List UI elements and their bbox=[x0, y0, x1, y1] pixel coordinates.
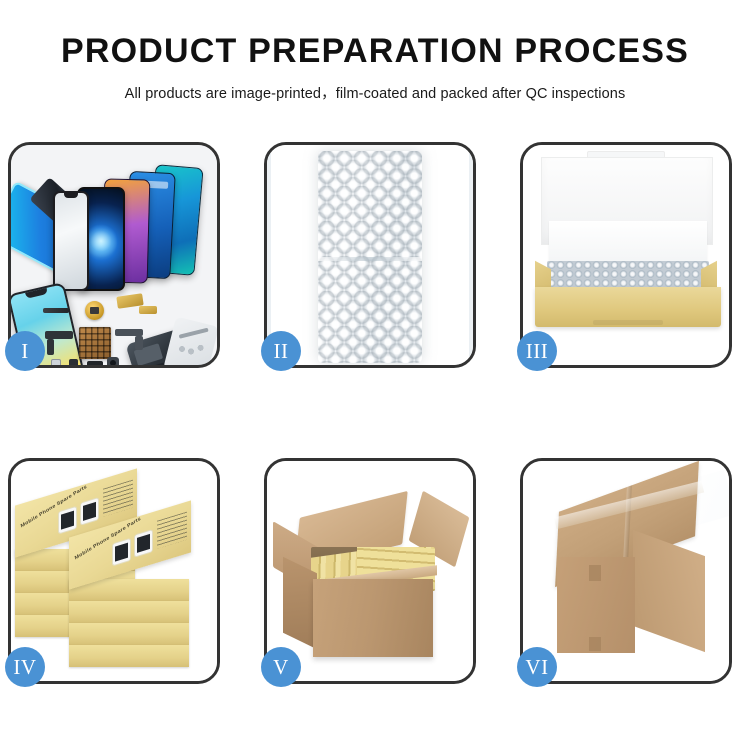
step-panel-carton-sealed: VI bbox=[520, 458, 732, 684]
flex-cable-grey-icon bbox=[115, 329, 143, 336]
loudspeaker-icon bbox=[87, 361, 103, 365]
carton-right-face bbox=[633, 530, 705, 652]
step-panel-bubble-wrap: II bbox=[264, 142, 476, 368]
button-part-icon bbox=[69, 359, 78, 365]
step-image-bubble-wrap bbox=[267, 145, 473, 365]
copper-grid-chip-icon bbox=[79, 327, 111, 359]
page-header: PRODUCT PREPARATION PROCESS All products… bbox=[0, 0, 750, 103]
process-steps-grid: I II III bbox=[8, 142, 742, 684]
screws-icon bbox=[179, 343, 209, 355]
box-label-spec-lines bbox=[103, 480, 133, 517]
bubble-wrap-edge-right bbox=[469, 145, 473, 365]
carton-left-face bbox=[283, 557, 317, 650]
stacked-box bbox=[69, 645, 189, 667]
step-badge-5: V bbox=[261, 647, 301, 687]
flex-cable-dark-icon bbox=[45, 331, 73, 339]
bubble-wrap-sheet-icon bbox=[318, 151, 422, 363]
step-image-carton-sealed bbox=[523, 461, 729, 681]
bubble-wrap-seam bbox=[318, 257, 422, 261]
repair-tool-icon bbox=[163, 316, 217, 365]
carton-hand-hole-top bbox=[589, 565, 601, 581]
camera-module-icon bbox=[107, 357, 119, 365]
step-image-phone-parts bbox=[11, 145, 217, 365]
carton-hand-hole-bottom bbox=[589, 637, 601, 651]
step-panel-box-stack: Mobile Phone Spare Parts Mobile Phone Sp… bbox=[8, 458, 220, 684]
box-label-screen-image bbox=[135, 530, 152, 556]
step-badge-4: IV bbox=[5, 647, 45, 687]
kraft-box-front-icon bbox=[535, 287, 721, 327]
step-badge-1: I bbox=[5, 331, 45, 371]
flex-cable-gold-small-icon bbox=[139, 306, 157, 314]
box-label-screen-image bbox=[59, 507, 76, 533]
step-image-box-stack: Mobile Phone Spare Parts Mobile Phone Sp… bbox=[11, 461, 217, 681]
glass-screen-protector-icon bbox=[53, 191, 89, 291]
step-panel-phone-parts: I bbox=[8, 142, 220, 368]
box-label-spec-lines bbox=[157, 512, 187, 549]
retail-box-stack-icon: Mobile Phone Spare Parts Mobile Phone Sp… bbox=[11, 461, 217, 681]
step-image-carton-filling bbox=[267, 461, 473, 681]
step-badge-6: VI bbox=[517, 647, 557, 687]
carton-front-face bbox=[313, 579, 433, 657]
stacked-box bbox=[69, 601, 189, 623]
sim-tray-icon bbox=[51, 359, 61, 365]
bubble-wrap-edge-left bbox=[267, 145, 271, 365]
step-panel-carton-filling: V bbox=[264, 458, 476, 684]
page-title: PRODUCT PREPARATION PROCESS bbox=[0, 34, 750, 70]
vibration-coil-icon bbox=[85, 301, 104, 320]
earpiece-speaker-icon bbox=[43, 308, 69, 313]
stacked-box bbox=[69, 623, 189, 645]
step-badge-3: III bbox=[517, 331, 557, 371]
box-label-screen-image bbox=[113, 539, 130, 565]
step-image-inner-box bbox=[523, 145, 729, 365]
step-panel-inner-box: III bbox=[520, 142, 732, 368]
step-badge-2: II bbox=[261, 331, 301, 371]
page-subtitle: All products are image-printed，film-coat… bbox=[0, 82, 750, 103]
box-label-screen-image bbox=[81, 498, 98, 524]
carton-top-seam bbox=[623, 485, 632, 562]
